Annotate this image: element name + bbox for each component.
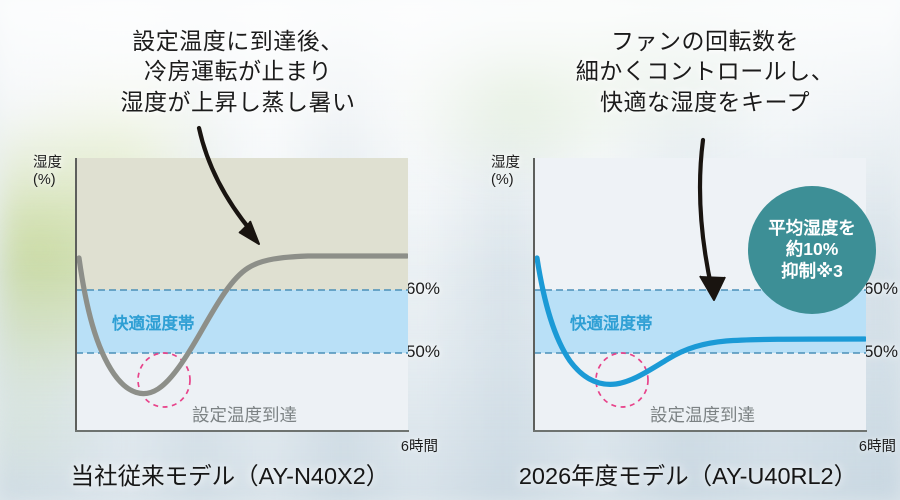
caption-left-line-2: 冷房運転が止まり (88, 56, 388, 86)
y-axis-line-legacy (75, 158, 77, 432)
y-axis-title-legacy: 湿度 (%) (33, 155, 62, 189)
x-axis-hours-label-legacy: 6時間 (401, 435, 438, 456)
y-axis-line-new2026 (533, 158, 535, 432)
infographic-stage: 設定温度に到達後、 冷房運転が止まり 湿度が上昇し蒸し暑い ファンの回転数を 細… (0, 0, 900, 500)
x-axis-line-legacy (75, 430, 409, 432)
average-humidity-badge: 平均湿度を 約10% 抑制※3 (748, 186, 876, 314)
plot-area-legacy (76, 158, 408, 430)
caption-right: ファンの回転数を 細かくコントロールし、 快適な湿度をキープ (545, 26, 865, 117)
caption-right-line-3: 快適な湿度をキープ (545, 87, 865, 117)
caption-left-line-1: 設定温度に到達後、 (88, 26, 388, 56)
caption-right-line-1: ファンの回転数を (545, 26, 865, 56)
badge-line-1: 平均湿度を (768, 218, 856, 239)
caption-left: 設定温度に到達後、 冷房運転が止まり 湿度が上昇し蒸し暑い (88, 26, 388, 117)
y-axis-title-new2026: 湿度 (%) (491, 155, 520, 189)
setpoint-reached-label-legacy: 設定温度到達 (192, 402, 297, 427)
comfort-band-label-legacy: 快適湿度帯 (112, 310, 195, 334)
comfort-band-label-new2026: 快適湿度帯 (570, 310, 653, 334)
setpoint-reached-label-new2026: 設定温度到達 (650, 402, 755, 427)
badge-line-2: 約10% (786, 239, 839, 260)
caption-right-line-2: 細かくコントロールし、 (545, 56, 865, 86)
badge-line-3: 抑制※3 (781, 261, 843, 282)
y-axis-title-line-1: 湿度 (491, 155, 520, 172)
y-axis-title-line-2: (%) (491, 172, 520, 189)
y-axis-title-line-2: (%) (33, 172, 62, 189)
caption-left-line-3: 湿度が上昇し蒸し暑い (88, 87, 388, 117)
model-name-new2026: 2026年度モデル（AY-U40RL2） (478, 457, 898, 491)
x-axis-line-new2026 (533, 430, 867, 432)
x-axis-hours-label-new2026: 6時間 (859, 435, 896, 456)
y-axis-title-line-1: 湿度 (33, 155, 62, 172)
model-name-legacy: 当社従来モデル（AY-N40X2） (20, 457, 440, 491)
chart-panel-legacy: 湿度 (%) 60% 50% 快適湿度帯 設定温度到達 (20, 150, 440, 500)
